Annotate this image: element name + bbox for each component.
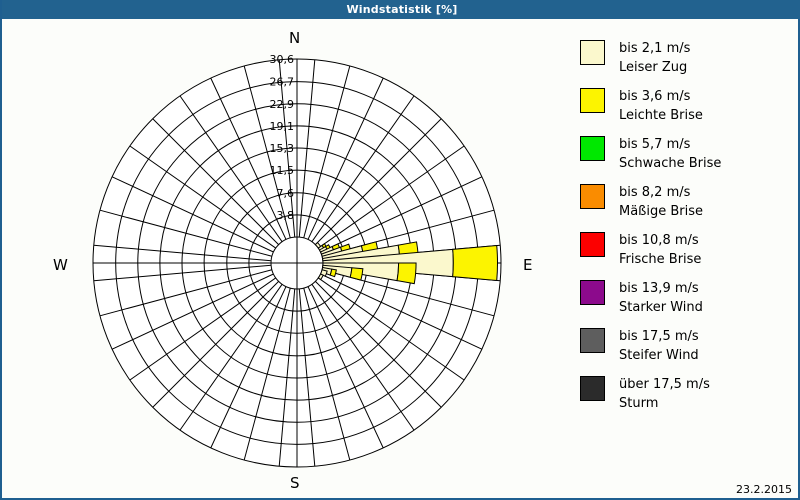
legend-item[interactable]: bis 2,1 m/sLeiser Zug <box>580 39 795 80</box>
legend-label: bis 2,1 m/sLeiser Zug <box>619 39 690 77</box>
wind-rose-chart: 3,87,611,515,319,122,926,730,6 N S W E <box>2 19 572 498</box>
legend-speed-label: über 17,5 m/s <box>619 375 710 394</box>
radial-tick-label: 22,9 <box>270 98 295 111</box>
window-content: 3,87,611,515,319,122,926,730,6 N S W E b… <box>2 19 798 498</box>
legend: bis 2,1 m/sLeiser Zugbis 3,6 m/sLeichte … <box>580 39 795 423</box>
legend-item[interactable]: bis 3,6 m/sLeichte Brise <box>580 87 795 128</box>
radial-tick-label: 3,8 <box>277 209 295 222</box>
compass-label-south: S <box>290 474 300 492</box>
legend-name-label: Leichte Brise <box>619 106 703 125</box>
window-title-bar: Windstatistik [%] <box>2 0 800 19</box>
legend-color-swatch <box>580 376 605 401</box>
radial-tick-label: 26,7 <box>270 76 295 89</box>
legend-item[interactable]: über 17,5 m/sSturm <box>580 375 795 416</box>
legend-color-swatch <box>580 136 605 161</box>
compass-label-west: W <box>53 256 68 274</box>
legend-name-label: Sturm <box>619 394 710 413</box>
compass-label-north: N <box>289 29 300 47</box>
wind-rose-segment <box>350 268 363 280</box>
legend-speed-label: bis 5,7 m/s <box>619 135 721 154</box>
radial-tick-label: 7,6 <box>277 187 295 200</box>
date-stamp: 23.2.2015 <box>736 483 792 496</box>
legend-item[interactable]: bis 10,8 m/sFrische Brise <box>580 231 795 272</box>
wind-rose-segment <box>330 269 336 277</box>
legend-label: bis 8,2 m/sMäßige Brise <box>619 183 703 221</box>
legend-name-label: Frische Brise <box>619 250 701 269</box>
wind-rose-segment <box>397 263 416 284</box>
legend-color-swatch <box>580 40 605 65</box>
legend-name-label: Starker Wind <box>619 298 703 317</box>
legend-speed-label: bis 10,8 m/s <box>619 231 701 250</box>
legend-label: bis 3,6 m/sLeichte Brise <box>619 87 703 125</box>
legend-speed-label: bis 8,2 m/s <box>619 183 703 202</box>
legend-speed-label: bis 2,1 m/s <box>619 39 690 58</box>
legend-speed-label: bis 3,6 m/s <box>619 87 703 106</box>
radial-tick-label: 30,6 <box>270 53 295 66</box>
legend-speed-label: bis 17,5 m/s <box>619 327 699 346</box>
legend-item[interactable]: bis 13,9 m/sStarker Wind <box>580 279 795 320</box>
legend-color-swatch <box>580 328 605 353</box>
radial-tick-label: 11,5 <box>270 164 295 177</box>
legend-label: über 17,5 m/sSturm <box>619 375 710 413</box>
wind-statistics-window: Windstatistik [%] 3,87,611,515,319,122,9… <box>0 0 800 500</box>
legend-label: bis 10,8 m/sFrische Brise <box>619 231 701 269</box>
legend-color-swatch <box>580 88 605 113</box>
legend-label: bis 5,7 m/sSchwache Brise <box>619 135 721 173</box>
legend-item[interactable]: bis 8,2 m/sMäßige Brise <box>580 183 795 224</box>
radial-tick-label: 19,1 <box>270 120 295 133</box>
radial-tick-label: 15,3 <box>270 142 295 155</box>
legend-color-swatch <box>580 232 605 257</box>
legend-name-label: Steifer Wind <box>619 346 699 365</box>
legend-name-label: Schwache Brise <box>619 154 721 173</box>
wind-rose-svg: 3,87,611,515,319,122,926,730,6 <box>2 19 572 498</box>
legend-label: bis 17,5 m/sSteifer Wind <box>619 327 699 365</box>
wind-rose-segment <box>453 246 498 281</box>
compass-label-east: E <box>523 256 532 274</box>
legend-speed-label: bis 13,9 m/s <box>619 279 703 298</box>
legend-item[interactable]: bis 5,7 m/sSchwache Brise <box>580 135 795 176</box>
legend-label: bis 13,9 m/sStarker Wind <box>619 279 703 317</box>
legend-item[interactable]: bis 17,5 m/sSteifer Wind <box>580 327 795 368</box>
legend-name-label: Mäßige Brise <box>619 202 703 221</box>
legend-name-label: Leiser Zug <box>619 58 690 77</box>
legend-color-swatch <box>580 184 605 209</box>
page-title: Windstatistik [%] <box>346 3 457 16</box>
legend-color-swatch <box>580 280 605 305</box>
